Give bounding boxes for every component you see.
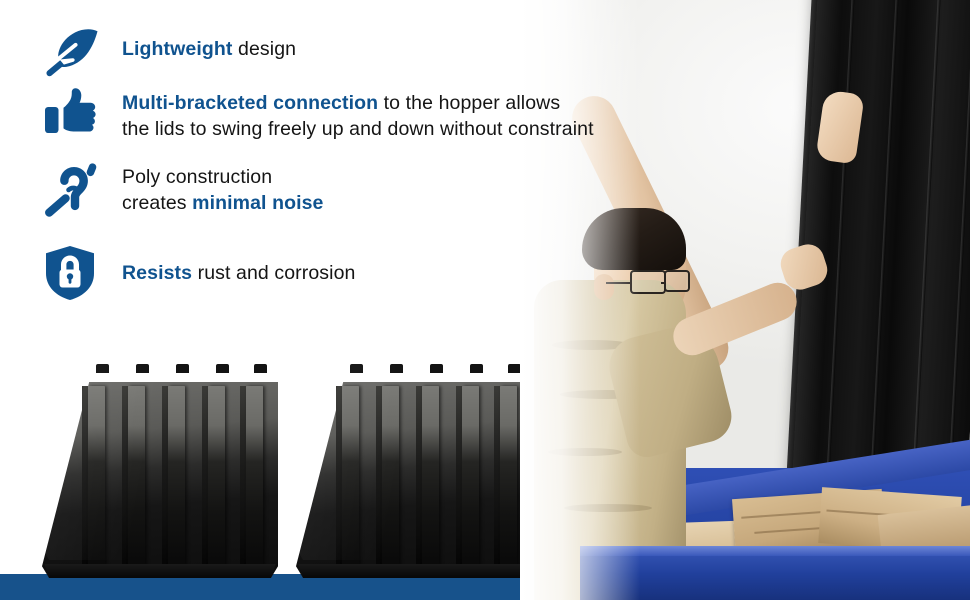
marketing-banner: Lightweight design Multi-bracketed conne… <box>0 0 970 600</box>
feature-plain-line2: the lids to swing freely up and down wit… <box>122 118 594 140</box>
thumbs-up-icon <box>44 80 122 144</box>
feather-icon <box>44 24 122 80</box>
feature-plain: design <box>233 38 297 60</box>
ear-hearing-icon <box>44 154 122 224</box>
feature-plain-line1: Poly construction <box>122 166 272 188</box>
feature-item-lightweight: Lightweight design <box>44 24 734 80</box>
feature-emphasis: Multi-bracketed connection <box>122 92 378 114</box>
feature-emphasis: minimal noise <box>192 192 323 214</box>
feature-plain: rust and corrosion <box>192 262 355 284</box>
feature-text-minimal-noise: Poly construction creates minimal noise <box>122 154 734 216</box>
feature-emphasis: Lightweight <box>122 38 233 60</box>
feature-emphasis: Resists <box>122 262 192 284</box>
shield-lock-icon <box>44 238 122 308</box>
feature-plain: to the hopper allows <box>378 92 560 114</box>
poly-lid-panel-right <box>296 364 532 578</box>
feature-text-multi-bracketed: Multi-bracketed connection to the hopper… <box>122 80 734 142</box>
feature-item-minimal-noise: Poly construction creates minimal noise <box>44 154 734 238</box>
feature-plain-line2: creates <box>122 192 192 214</box>
feature-item-rust-resistant: Resists rust and corrosion <box>44 238 734 308</box>
product-photo-poly-lids <box>34 348 544 578</box>
poly-lid-panel-left <box>42 364 278 578</box>
feature-item-multi-bracketed: Multi-bracketed connection to the hopper… <box>44 80 734 154</box>
lid-base-edge <box>42 564 278 578</box>
feature-text-lightweight: Lightweight design <box>122 24 734 62</box>
lid-base-edge <box>296 564 532 578</box>
feature-list: Lightweight design Multi-bracketed conne… <box>44 24 734 308</box>
feature-text-rust-resistant: Resists rust and corrosion <box>122 238 734 286</box>
